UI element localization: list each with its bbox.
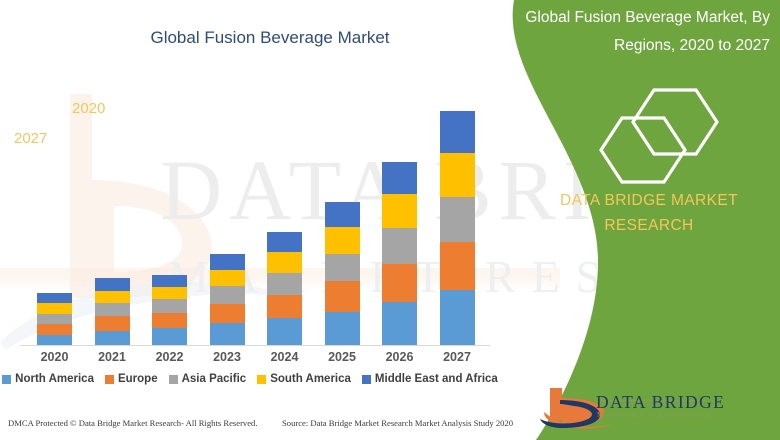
- bar-segment: [325, 227, 360, 254]
- bar-segment: [37, 314, 72, 324]
- bar-segment: [95, 303, 130, 316]
- bar-segment: [210, 270, 245, 286]
- legend-item[interactable]: Europe: [105, 373, 158, 385]
- logo-subtitle: MARKET RESEARCH: [597, 411, 713, 419]
- bar-2022: [152, 275, 187, 345]
- legend-swatch-icon: [362, 375, 371, 384]
- logo-wordmark: DATA BRIDGE: [596, 392, 725, 413]
- bar-segment: [95, 331, 130, 345]
- bar-segment: [37, 335, 72, 345]
- bar-segment: [325, 202, 360, 227]
- bar-segment: [210, 286, 245, 304]
- hexagon-pair-icon: [592, 88, 732, 186]
- panel-title: Global Fusion Beverage Market, By Region…: [498, 4, 770, 60]
- legend-swatch-icon: [169, 375, 178, 384]
- bar-segment: [382, 264, 417, 302]
- bar-segment: [267, 295, 302, 319]
- bar-2025: [325, 202, 360, 345]
- bar-2024: [267, 232, 302, 345]
- bar-segment: [152, 275, 187, 287]
- chart-legend: North AmericaEuropeAsia PacificSouth Ame…: [0, 373, 500, 385]
- bar-segment: [210, 304, 245, 323]
- legend-item[interactable]: South America: [257, 373, 351, 385]
- bar-segment: [210, 254, 245, 270]
- footer-copyright: DMCA Protected © Data Bridge Market Rese…: [8, 418, 258, 428]
- bar-segment: [267, 252, 302, 273]
- panel-brand-line2: RESEARCH: [524, 213, 774, 238]
- legend-swatch-icon: [105, 375, 114, 384]
- bar-2021: [95, 278, 130, 345]
- bar-segment: [152, 287, 187, 299]
- infographic-canvas: DATA BRIDGE MARKET RESEARCH Global Fusio…: [0, 0, 780, 440]
- bar-segment: [95, 291, 130, 303]
- bar-segment: [325, 281, 360, 311]
- legend-label: South America: [270, 373, 351, 385]
- legend-label: Asia Pacific: [182, 373, 247, 385]
- legend-item[interactable]: Asia Pacific: [169, 373, 247, 385]
- panel-brand-line1: DATA BRIDGE MARKET: [524, 188, 774, 213]
- bar-segment: [267, 232, 302, 252]
- bar-segment: [325, 312, 360, 345]
- bar-segment: [267, 273, 302, 295]
- bar-segment: [382, 162, 417, 193]
- bar-segment: [382, 228, 417, 264]
- bar-segment: [95, 316, 130, 330]
- bar-segment: [95, 278, 130, 290]
- bar-segment: [382, 302, 417, 345]
- bar-segment: [210, 323, 245, 345]
- bar-segment: [267, 318, 302, 345]
- x-axis-line: [20, 345, 490, 346]
- bar-segment: [37, 293, 72, 303]
- panel-brand: DATA BRIDGE MARKET RESEARCH: [524, 188, 774, 238]
- bar-segment: [152, 313, 187, 328]
- bar-2023: [210, 254, 245, 345]
- legend-swatch-icon: [257, 375, 266, 384]
- bar-2020: [37, 293, 72, 345]
- bar-segment: [37, 324, 72, 334]
- legend-label: Europe: [118, 373, 158, 385]
- bar-segment: [152, 328, 187, 345]
- legend-label: North America: [15, 373, 94, 385]
- bar-segment: [152, 299, 187, 312]
- bar-segment: [382, 194, 417, 228]
- bar-segment: [37, 303, 72, 313]
- legend-swatch-icon: [2, 375, 11, 384]
- hexagon-label-2027: 2027: [14, 130, 47, 147]
- bar-segment: [325, 254, 360, 282]
- bar-2026: [382, 162, 417, 345]
- legend-item[interactable]: North America: [2, 373, 94, 385]
- hexagon-label-2020: 2020: [72, 100, 105, 117]
